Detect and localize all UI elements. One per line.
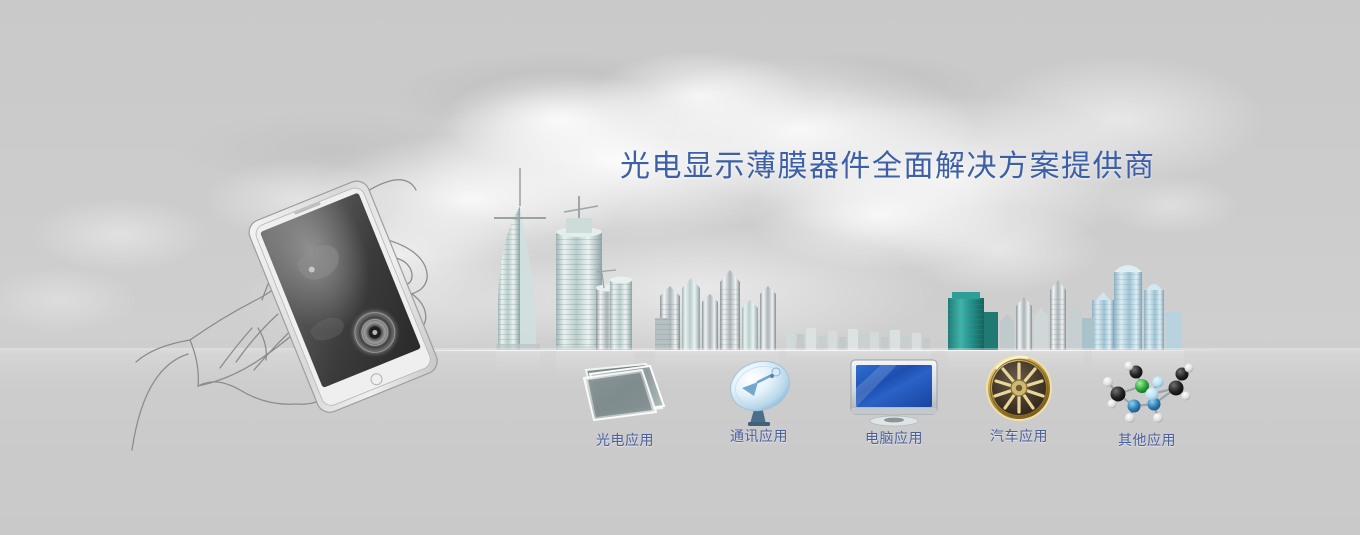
category-item-computer[interactable]: 电脑应用 — [835, 354, 953, 448]
mid-cluster — [655, 270, 776, 350]
page-title: 光电显示薄膜器件全面解决方案提供商 — [620, 141, 1156, 185]
category-item-communication[interactable]: 通讯应用 — [700, 352, 818, 446]
computer-monitor-icon — [835, 354, 953, 424]
hand-holding-phone-illustration — [128, 118, 458, 478]
glass-film-panels-icon — [566, 356, 684, 426]
right-cluster — [1000, 280, 1082, 350]
category-item-other[interactable]: 其他应用 — [1088, 356, 1206, 450]
molecule-model-icon — [1088, 356, 1206, 426]
sail-tower — [494, 168, 546, 350]
hero-banner: 光电显示薄膜器件全面解决方案提供商 — [0, 0, 1360, 535]
smartphone — [245, 177, 441, 416]
category-item-optoelectronic[interactable]: 光电应用 — [566, 356, 684, 450]
horizon-line — [330, 350, 1240, 351]
blue-glass-towers — [1082, 265, 1182, 350]
category-label: 汽车应用 — [960, 426, 1078, 446]
teal-tower — [948, 292, 998, 350]
category-label: 光电应用 — [566, 430, 684, 450]
car-wheel-icon — [960, 352, 1078, 422]
satellite-dish-icon — [700, 352, 818, 422]
lowrise-row — [786, 328, 930, 350]
category-label: 通讯应用 — [700, 426, 818, 446]
application-categories: 光电应用 — [560, 352, 1200, 462]
category-item-automotive[interactable]: 汽车应用 — [960, 352, 1078, 446]
category-label: 其他应用 — [1088, 430, 1206, 450]
category-label: 电脑应用 — [835, 428, 953, 448]
